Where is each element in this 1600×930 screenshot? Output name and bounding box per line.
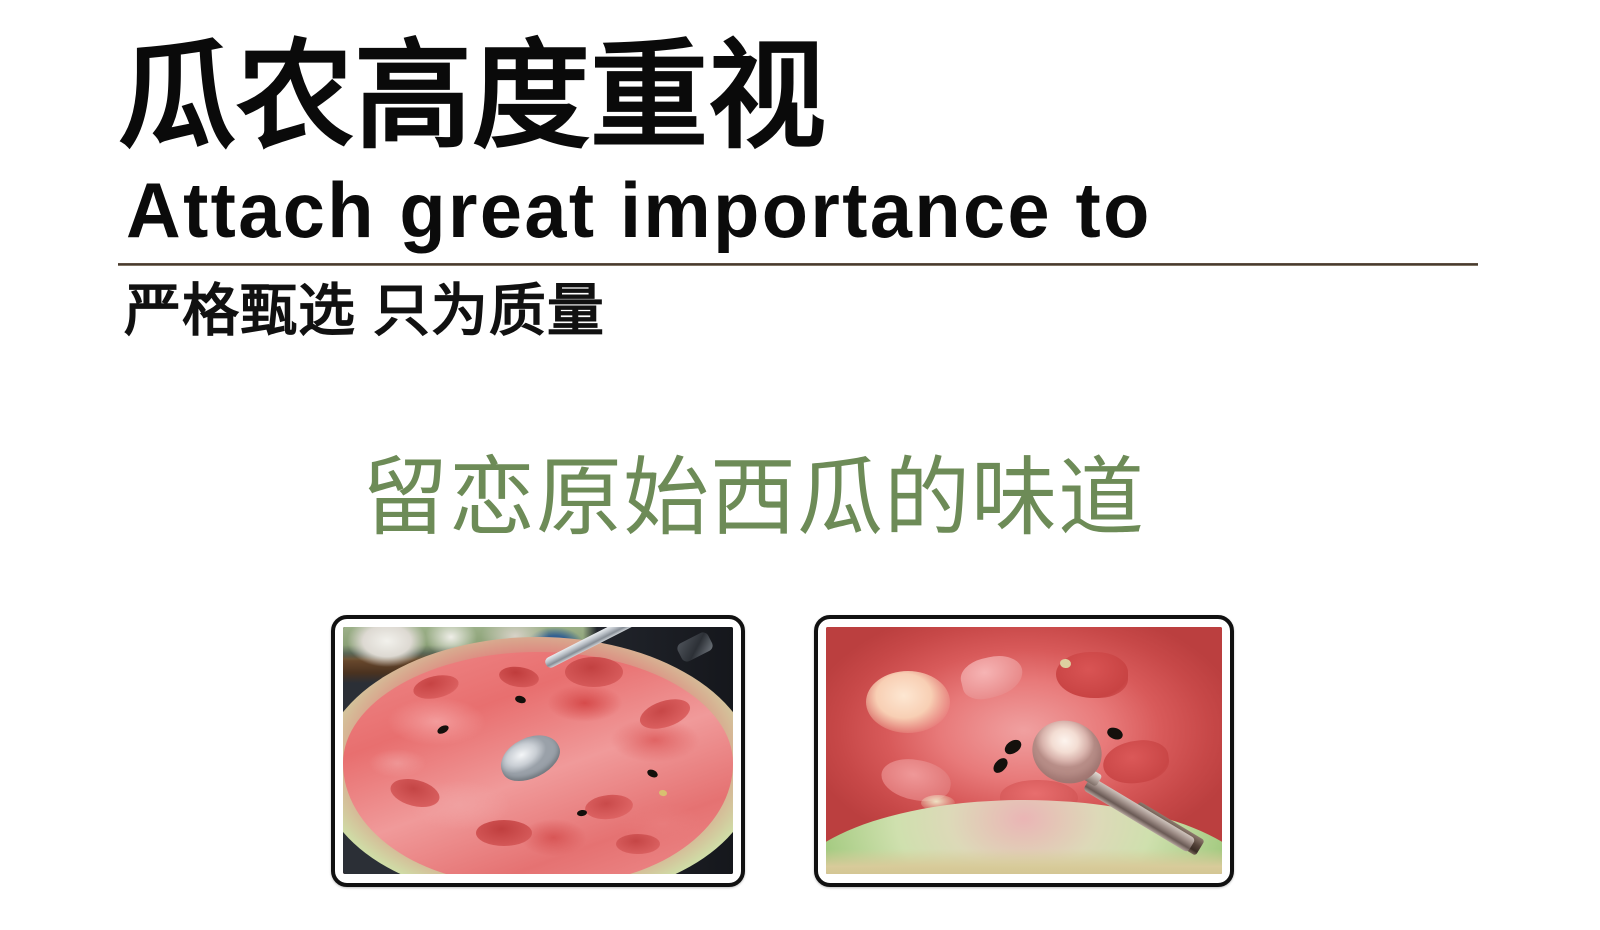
page-title-english: Attach great importance to [126,171,1439,249]
photo1-scoop-mark [565,657,623,687]
photo-frame-watermelon-closeup [814,615,1234,887]
photo1-scoop-mark [476,820,532,846]
subtitle-chinese: 严格甄选 只为质量 [124,280,1480,343]
photo2-flesh-highlight [866,671,950,733]
poster-canvas: 瓜农高度重视 Attach great importance to 严格甄选 只… [0,0,1600,930]
page-title-chinese: 瓜农高度重视 [118,30,1480,165]
photo-frame-watermelon-half [331,615,745,887]
tagline-chinese: 留恋原始西瓜的味道 [362,452,1145,545]
photo-watermelon-half [343,627,733,874]
photo2-plate [826,849,1222,874]
photo-watermelon-closeup [826,627,1222,874]
headline-block: 瓜农高度重视 Attach great importance to 严格甄选 只… [118,30,1480,342]
horizontal-rule [118,263,1478,266]
photo-row [0,615,1600,915]
